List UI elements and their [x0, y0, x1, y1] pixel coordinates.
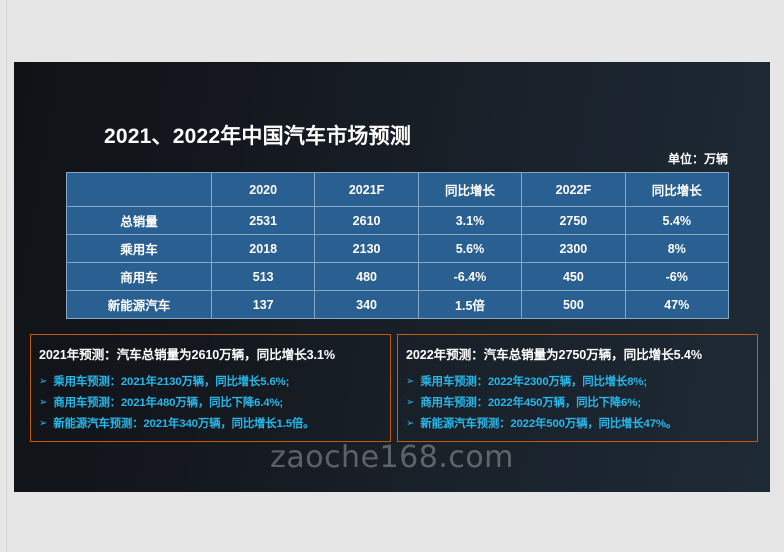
table-header-cell-2020: 2020: [212, 173, 315, 207]
cell-2022f: 2300: [522, 235, 625, 263]
cell-2021f: 2130: [315, 235, 418, 263]
cell-2021f: 2610: [315, 207, 418, 235]
page-left-rule: [6, 0, 7, 552]
row-label: 乘用车: [67, 235, 212, 263]
list-item: ➢ 乘用车预测：2022年2300万辆，同比增长8%;: [406, 373, 749, 389]
cell-2021f: 480: [315, 263, 418, 291]
arrow-bullet-icon: ➢: [39, 419, 47, 429]
row-label: 总销量: [67, 207, 212, 235]
list-item-label: 新能源汽车预测：2021年340万辆，同比增长1.5倍。: [53, 415, 314, 431]
table-header-cell-growth-2022: 同比增长: [625, 173, 728, 207]
table-header: 2020 2021F 同比增长 2022F 同比增长: [67, 173, 729, 207]
arrow-bullet-icon: ➢: [406, 419, 414, 429]
table-row: 乘用车 2018 2130 5.6% 2300 8%: [67, 235, 729, 263]
cell-2022f: 500: [522, 291, 625, 319]
table-header-cell-growth-2021: 同比增长: [418, 173, 521, 207]
site-watermark: zaoche168.com: [14, 440, 770, 475]
list-item: ➢ 新能源汽车预测：2021年340万辆，同比增长1.5倍。: [39, 415, 382, 431]
cell-2020: 2531: [212, 207, 315, 235]
table-row: 商用车 513 480 -6.4% 450 -6%: [67, 263, 729, 291]
cell-2020: 137: [212, 291, 315, 319]
table-header-cell-2021f: 2021F: [315, 173, 418, 207]
arrow-bullet-icon: ➢: [39, 398, 47, 408]
panel-heading-2021: 2021年预测：汽车总销量为2610万辆，同比增长3.1%: [39, 344, 382, 363]
list-item: ➢ 商用车预测：2021年480万辆，同比下降6.4%;: [39, 394, 382, 410]
list-item-label: 商用车预测：2021年480万辆，同比下降6.4%;: [53, 394, 283, 410]
market-forecast-table-container: 2020 2021F 同比增长 2022F 同比增长 总销量 2531 2610…: [66, 172, 728, 319]
row-label: 新能源汽车: [67, 291, 212, 319]
page-title: 2021、2022年中国汽车市场预测: [104, 120, 411, 150]
slide-canvas: 2021、2022年中国汽车市场预测 单位：万辆 2020 2021F 同比增长…: [14, 62, 770, 492]
market-forecast-table: 2020 2021F 同比增长 2022F 同比增长 总销量 2531 2610…: [66, 172, 729, 319]
cell-growth-2022: 5.4%: [625, 207, 728, 235]
table-body: 总销量 2531 2610 3.1% 2750 5.4% 乘用车 2018 21…: [67, 207, 729, 319]
list-item-label: 乘用车预测：2022年2300万辆，同比增长8%;: [420, 373, 647, 389]
arrow-bullet-icon: ➢: [406, 398, 414, 408]
cell-growth-2022: 47%: [625, 291, 728, 319]
row-label: 商用车: [67, 263, 212, 291]
cell-growth-2021: 5.6%: [418, 235, 521, 263]
arrow-bullet-icon: ➢: [406, 377, 414, 387]
list-item: ➢ 乘用车预测：2021年2130万辆，同比增长5.6%;: [39, 373, 382, 389]
cell-growth-2021: -6.4%: [418, 263, 521, 291]
table-row: 新能源汽车 137 340 1.5倍 500 47%: [67, 291, 729, 319]
list-item-label: 新能源汽车预测：2022年500万辆，同比增长47%。: [420, 415, 677, 431]
panel-heading-2022: 2022年预测：汽车总销量为2750万辆，同比增长5.4%: [406, 344, 749, 363]
cell-growth-2022: -6%: [625, 263, 728, 291]
list-item-label: 乘用车预测：2021年2130万辆，同比增长5.6%;: [53, 373, 289, 389]
cell-2020: 513: [212, 263, 315, 291]
table-header-cell-2022f: 2022F: [522, 173, 625, 207]
cell-growth-2021: 3.1%: [418, 207, 521, 235]
cell-2022f: 2750: [522, 207, 625, 235]
cell-growth-2022: 8%: [625, 235, 728, 263]
arrow-bullet-icon: ➢: [39, 377, 47, 387]
cell-2021f: 340: [315, 291, 418, 319]
unit-label: 单位：万辆: [668, 150, 728, 167]
forecast-panels: 2021年预测：汽车总销量为2610万辆，同比增长3.1% ➢ 乘用车预测：20…: [30, 334, 758, 442]
cell-growth-2021: 1.5倍: [418, 291, 521, 319]
forecast-panel-2022: 2022年预测：汽车总销量为2750万辆，同比增长5.4% ➢ 乘用车预测：20…: [397, 334, 758, 442]
list-item: ➢ 新能源汽车预测：2022年500万辆，同比增长47%。: [406, 415, 749, 431]
forecast-panel-2021: 2021年预测：汽车总销量为2610万辆，同比增长3.1% ➢ 乘用车预测：20…: [30, 334, 391, 442]
table-row: 总销量 2531 2610 3.1% 2750 5.4%: [67, 207, 729, 235]
list-item-label: 商用车预测：2022年450万辆，同比下降6%;: [420, 394, 640, 410]
table-header-cell-blank: [67, 173, 212, 207]
list-item: ➢ 商用车预测：2022年450万辆，同比下降6%;: [406, 394, 749, 410]
cell-2020: 2018: [212, 235, 315, 263]
table-header-row: 2020 2021F 同比增长 2022F 同比增长: [67, 173, 729, 207]
cell-2022f: 450: [522, 263, 625, 291]
